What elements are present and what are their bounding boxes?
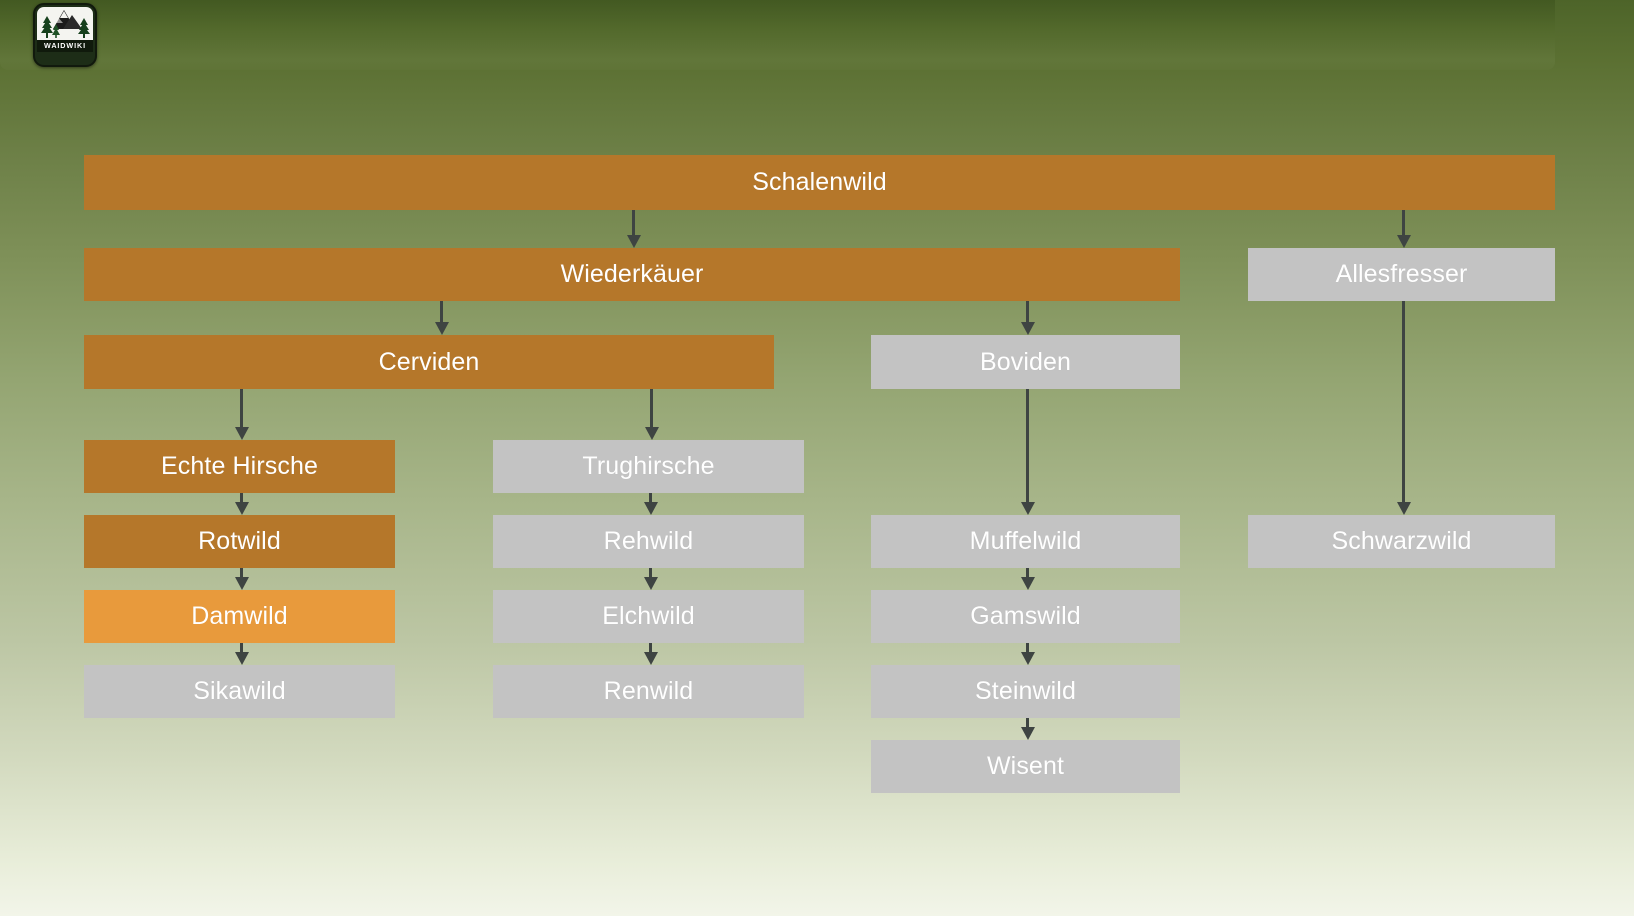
- arrowhead-down-icon: [1021, 727, 1035, 740]
- node-label: Trughirsche: [582, 452, 714, 481]
- node-boviden[interactable]: Boviden: [871, 335, 1180, 389]
- arrowhead-down-icon: [235, 427, 249, 440]
- connector-line: [1026, 718, 1029, 727]
- connector-line: [240, 389, 243, 427]
- arrowhead-down-icon: [1397, 235, 1411, 248]
- waidwiki-logo[interactable]: WAIDWIKI: [33, 3, 97, 67]
- arrowhead-down-icon: [235, 652, 249, 665]
- node-wiederkaeuer[interactable]: Wiederkäuer: [84, 248, 1180, 301]
- node-label: Boviden: [980, 348, 1071, 377]
- node-wisent[interactable]: Wisent: [871, 740, 1180, 793]
- connector-line: [240, 643, 243, 652]
- node-rehwild[interactable]: Rehwild: [493, 515, 804, 568]
- connector-line: [1026, 643, 1029, 652]
- node-label: Renwild: [604, 677, 694, 706]
- node-label: Steinwild: [975, 677, 1076, 706]
- node-label: Muffelwild: [970, 527, 1082, 556]
- node-label: Schwarzwild: [1331, 527, 1471, 556]
- arrowhead-down-icon: [644, 577, 658, 590]
- site-header-bar: [0, 0, 1555, 70]
- connector-line: [240, 568, 243, 577]
- node-label: Rotwild: [198, 527, 281, 556]
- node-echte_hirsche[interactable]: Echte Hirsche: [84, 440, 395, 493]
- connector-line: [440, 301, 443, 322]
- mountain-forest-icon: [37, 7, 93, 40]
- node-label: Allesfresser: [1336, 260, 1468, 289]
- arrowhead-down-icon: [644, 652, 658, 665]
- node-label: Damwild: [191, 602, 288, 631]
- connector-line: [1026, 301, 1029, 322]
- connector-line: [1026, 568, 1029, 577]
- arrowhead-down-icon: [1397, 502, 1411, 515]
- node-schwarzwild[interactable]: Schwarzwild: [1248, 515, 1555, 568]
- node-label: Rehwild: [604, 527, 694, 556]
- arrowhead-down-icon: [1021, 502, 1035, 515]
- node-label: Elchwild: [602, 602, 695, 631]
- node-allesfresser[interactable]: Allesfresser: [1248, 248, 1555, 301]
- arrowhead-down-icon: [235, 502, 249, 515]
- arrowhead-down-icon: [435, 322, 449, 335]
- arrowhead-down-icon: [644, 502, 658, 515]
- node-rotwild[interactable]: Rotwild: [84, 515, 395, 568]
- node-label: Schalenwild: [752, 168, 887, 197]
- connector-line: [649, 568, 652, 577]
- arrowhead-down-icon: [1021, 322, 1035, 335]
- connector-line: [1402, 210, 1405, 235]
- arrowhead-down-icon: [1021, 652, 1035, 665]
- connector-line: [1026, 389, 1029, 502]
- node-gamswild[interactable]: Gamswild: [871, 590, 1180, 643]
- node-elchwild[interactable]: Elchwild: [493, 590, 804, 643]
- node-label: Gamswild: [970, 602, 1081, 631]
- node-label: Sikawild: [193, 677, 286, 706]
- node-label: Cerviden: [379, 348, 480, 377]
- node-label: Echte Hirsche: [161, 452, 318, 481]
- arrowhead-down-icon: [235, 577, 249, 590]
- connector-line: [632, 210, 635, 235]
- node-steinwild[interactable]: Steinwild: [871, 665, 1180, 718]
- arrowhead-down-icon: [645, 427, 659, 440]
- node-sikawild[interactable]: Sikawild: [84, 665, 395, 718]
- logo-wordmark: WAIDWIKI: [37, 40, 93, 52]
- connector-line: [240, 493, 243, 502]
- node-renwild[interactable]: Renwild: [493, 665, 804, 718]
- node-schalenwild[interactable]: Schalenwild: [84, 155, 1555, 210]
- arrowhead-down-icon: [627, 235, 641, 248]
- node-trughirsche[interactable]: Trughirsche: [493, 440, 804, 493]
- node-label: Wisent: [987, 752, 1064, 781]
- node-muffelwild[interactable]: Muffelwild: [871, 515, 1180, 568]
- node-cerviden[interactable]: Cerviden: [84, 335, 774, 389]
- node-label: Wiederkäuer: [561, 260, 704, 289]
- connector-line: [649, 493, 652, 502]
- connector-line: [1402, 301, 1405, 502]
- arrowhead-down-icon: [1021, 577, 1035, 590]
- connector-line: [650, 389, 653, 427]
- node-damwild[interactable]: Damwild: [84, 590, 395, 643]
